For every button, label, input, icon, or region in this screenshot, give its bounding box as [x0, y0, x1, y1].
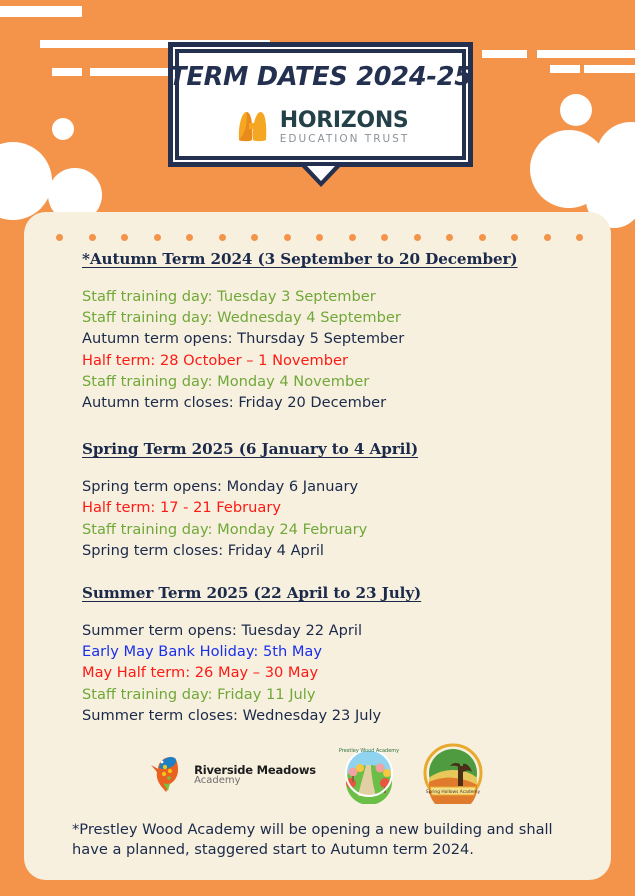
deco-dash	[52, 68, 82, 76]
deco-dot	[284, 234, 291, 241]
term-line-list: Summer term opens: Tuesday 22 April Earl…	[82, 620, 581, 726]
deco-dot	[381, 234, 388, 241]
term-line-list: Spring term opens: Monday 6 January Half…	[82, 476, 581, 561]
term-line: Autumn term opens: Thursday 5 September	[82, 328, 581, 349]
term-heading: *Autumn Term 2024 (3 September to 20 Dec…	[82, 250, 581, 268]
school-logo-subtitle: Academy	[194, 776, 316, 787]
deco-dot	[186, 234, 193, 241]
deco-circle	[0, 142, 52, 220]
term-heading: Spring Term 2025 (6 January to 4 April)	[82, 440, 581, 458]
deco-dot	[121, 234, 128, 241]
deco-dot	[56, 234, 63, 241]
horizons-a-mark-icon	[232, 105, 272, 149]
deco-dash	[0, 6, 82, 17]
deco-dot	[89, 234, 96, 241]
deco-dot	[414, 234, 421, 241]
term-line: Staff training day: Friday 11 July	[82, 684, 581, 705]
trust-logo-subtitle: EDUCATION TRUST	[280, 134, 410, 145]
deco-dot	[349, 234, 356, 241]
deco-dot	[479, 234, 486, 241]
school-logo-text: Riverside Meadows Academy	[194, 764, 316, 787]
deco-dash	[550, 65, 580, 73]
decorative-dot-row	[56, 234, 583, 241]
term-line: May Half term: 26 May – 30 May	[82, 662, 581, 683]
green-tree-roundel-icon: Spring Hollows Academy	[422, 742, 484, 808]
term-line: Staff training day: Tuesday 3 September	[82, 286, 581, 307]
school-logo-name: Riverside Meadows	[194, 764, 316, 776]
terms-content: *Autumn Term 2024 (3 September to 20 Dec…	[82, 250, 581, 726]
term-line: Spring term closes: Friday 4 April	[82, 540, 581, 561]
deco-dot	[251, 234, 258, 241]
trust-logo-text: HORIZONS EDUCATION TRUST	[280, 110, 410, 145]
woodland-path-roundel-icon: Prestley Wood Academy	[338, 742, 400, 808]
deco-dot	[446, 234, 453, 241]
deco-dash	[482, 50, 527, 58]
deco-dot	[544, 234, 551, 241]
deco-dash	[90, 68, 180, 76]
term-section-spring: Spring Term 2025 (6 January to 4 April) …	[82, 440, 581, 561]
term-line: Half term: 28 October – 1 November	[82, 350, 581, 371]
term-heading: Summer Term 2025 (22 April to 23 July)	[82, 584, 581, 602]
trust-logo: HORIZONS EDUCATION TRUST	[232, 105, 410, 149]
deco-dot	[219, 234, 226, 241]
footnote: *Prestley Wood Academy will be opening a…	[72, 820, 569, 859]
term-line-list: Staff training day: Tuesday 3 September …	[82, 286, 581, 413]
deco-dash	[537, 50, 635, 58]
term-line: Summer term closes: Wednesday 23 July	[82, 705, 581, 726]
school-logo-riverside-meadows: Riverside Meadows Academy	[151, 753, 316, 797]
term-line: Staff training day: Monday 4 November	[82, 371, 581, 392]
kingfisher-bird-icon	[151, 753, 187, 797]
svg-text:Spring Hollows Academy: Spring Hollows Academy	[426, 789, 481, 795]
term-line: Half term: 17 - 21 February	[82, 497, 581, 518]
deco-dot	[576, 234, 583, 241]
term-line: Spring term opens: Monday 6 January	[82, 476, 581, 497]
deco-dot	[511, 234, 518, 241]
term-line: Early May Bank Holiday: 5th May	[82, 641, 581, 662]
term-section-autumn: *Autumn Term 2024 (3 September to 20 Dec…	[82, 250, 581, 413]
term-line: Autumn term closes: Friday 20 December	[82, 392, 581, 413]
banner-pointer-tail	[301, 166, 341, 187]
term-section-summer: Summer Term 2025 (22 April to 23 July) S…	[82, 584, 581, 726]
deco-circle	[52, 118, 74, 140]
deco-dash	[584, 65, 635, 73]
svg-text:Prestley Wood Academy: Prestley Wood Academy	[339, 748, 399, 754]
page-title: TERM DATES 2024-25	[169, 62, 472, 92]
deco-dot	[154, 234, 161, 241]
school-logos-row: Riverside Meadows Academy	[24, 742, 611, 808]
banner-inner-border: TERM DATES 2024-25 HORIZONS EDUCATION TR…	[175, 49, 466, 160]
term-line: Staff training day: Monday 24 February	[82, 519, 581, 540]
deco-dot	[316, 234, 323, 241]
term-line: Summer term opens: Tuesday 22 April	[82, 620, 581, 641]
trust-logo-name: HORIZONS	[280, 110, 410, 132]
header-banner: TERM DATES 2024-25 HORIZONS EDUCATION TR…	[168, 42, 473, 167]
term-dates-card: *Autumn Term 2024 (3 September to 20 Dec…	[24, 212, 611, 880]
term-line: Staff training day: Wednesday 4 Septembe…	[82, 307, 581, 328]
deco-circle	[560, 94, 592, 126]
